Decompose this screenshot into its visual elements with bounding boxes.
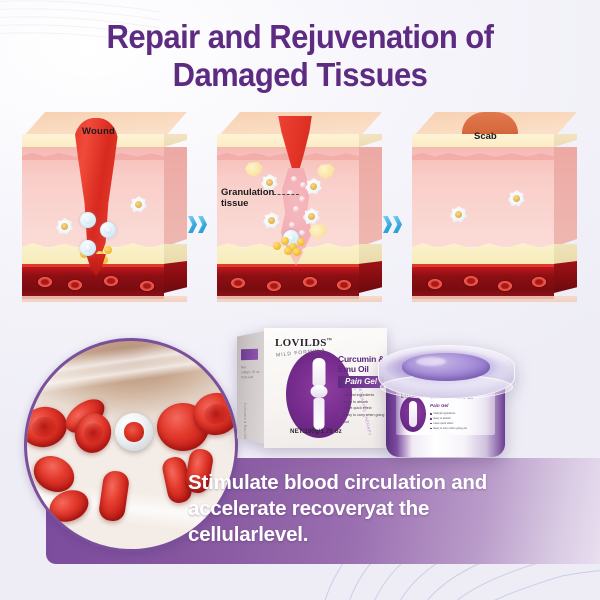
wound-healing-diagram: Wound	[0, 112, 600, 302]
blood-vessel-side	[164, 261, 187, 293]
white-blood-cell	[100, 222, 116, 238]
double-chevron-right-icon	[393, 216, 402, 233]
epidermis-side	[359, 134, 382, 147]
stage-arrow-1	[188, 112, 212, 302]
side-panel-vertical-text: Curcumin & Emu Oil	[243, 403, 247, 439]
white-blood-cell	[115, 413, 153, 451]
epidermis-side	[554, 134, 577, 147]
skin-cross-section-1: Wound	[22, 112, 187, 302]
dermis-layer	[412, 147, 554, 247]
red-blood-cell	[337, 280, 351, 290]
wound-label: Wound	[82, 126, 115, 137]
red-blood-cell	[428, 279, 442, 289]
double-chevron-right-icon	[188, 216, 197, 233]
red-blood-cell	[24, 402, 71, 452]
jar-product-type: Pain Gel	[430, 403, 448, 408]
jar-benefit-item: Easy to carry when going out	[430, 427, 492, 432]
box-trademark: ™	[327, 338, 332, 343]
red-blood-cell	[464, 276, 478, 286]
side-panel-text: Net100g/1.70 ozPain Gel	[241, 365, 261, 380]
base-edge	[412, 296, 577, 302]
banner-message: Stimulate blood circulation and accelera…	[188, 470, 548, 549]
red-blood-cell	[68, 280, 82, 290]
white-blood-cell	[80, 212, 96, 228]
page-title-line2: Damaged Tissues	[18, 56, 582, 94]
product-box: Net100g/1.70 ozPain Gel Curcumin & Emu O…	[237, 328, 387, 448]
pus-cluster	[271, 234, 309, 256]
granulation-label-line1: Granulation	[221, 187, 274, 198]
red-blood-cell	[498, 281, 512, 291]
epidermis-side	[164, 134, 187, 147]
white-blood-cell	[80, 240, 96, 256]
red-blood-cell	[104, 276, 118, 286]
product-box-front: LOVILDS™ MILD FORMULA PENETRATING THERAP…	[264, 328, 387, 448]
skin-cross-section-3: Scab	[412, 112, 577, 302]
blood-vessel-layer	[217, 264, 359, 299]
base-edge	[22, 296, 187, 302]
granulation-leader-line	[273, 194, 299, 196]
blood-vessel-side	[554, 261, 577, 293]
promo-graphic-page: Repair and Rejuvenation of Damaged Tissu…	[0, 0, 600, 600]
double-chevron-right-icon	[383, 216, 392, 233]
banner-message-line1: Stimulate blood circulation and	[188, 470, 548, 496]
product-jar: LOVILDS™ Curcumin & Emu Oil Pain Gel Nat…	[378, 345, 513, 457]
stage-arrow-2	[383, 112, 407, 302]
scab-label: Scab	[474, 131, 497, 142]
granulation-label-line2: tissue	[221, 198, 248, 209]
base-edge	[217, 296, 382, 302]
red-blood-cell	[140, 281, 154, 291]
red-blood-cell	[38, 277, 52, 287]
granulation-label: Granulation tissue	[221, 188, 274, 209]
red-blood-cell	[303, 277, 317, 287]
dermis-side	[359, 147, 382, 247]
skin-cross-section-2: Granulation tissue	[217, 112, 382, 302]
jar-gel-content	[402, 353, 490, 381]
blood-vessel-layer	[412, 264, 554, 299]
dermis-side	[554, 147, 577, 247]
jar-knee-graphic	[400, 396, 426, 432]
banner-message-line2: accelerate recoveryat the	[188, 496, 548, 522]
diagram-stage-granulation: Granulation tissue	[217, 112, 382, 302]
box-net-weight: NET:100g/1.70 oz	[290, 428, 342, 435]
double-chevron-right-icon	[198, 216, 207, 233]
banner-message-line3: cellularlevel.	[188, 522, 548, 548]
dermis-side	[164, 147, 187, 247]
page-title-line1: Repair and Rejuvenation of	[18, 18, 582, 56]
product-box-side-panel: Net100g/1.70 ozPain Gel Curcumin & Emu O…	[237, 331, 265, 444]
diagram-stage-scab: Scab	[412, 112, 577, 302]
side-panel-bar	[241, 349, 258, 361]
diagram-stage-wound: Wound	[22, 112, 187, 302]
red-blood-cell	[532, 277, 546, 287]
box-product-name-line2: Emu Oil	[338, 364, 369, 374]
page-title: Repair and Rejuvenation of Damaged Tissu…	[18, 18, 582, 93]
red-blood-cell	[267, 281, 281, 291]
jar-benefits-list: Natural ingredients Easy to absorb Have …	[430, 412, 492, 432]
red-blood-cell	[231, 278, 245, 288]
blood-vessel-side	[359, 261, 382, 293]
